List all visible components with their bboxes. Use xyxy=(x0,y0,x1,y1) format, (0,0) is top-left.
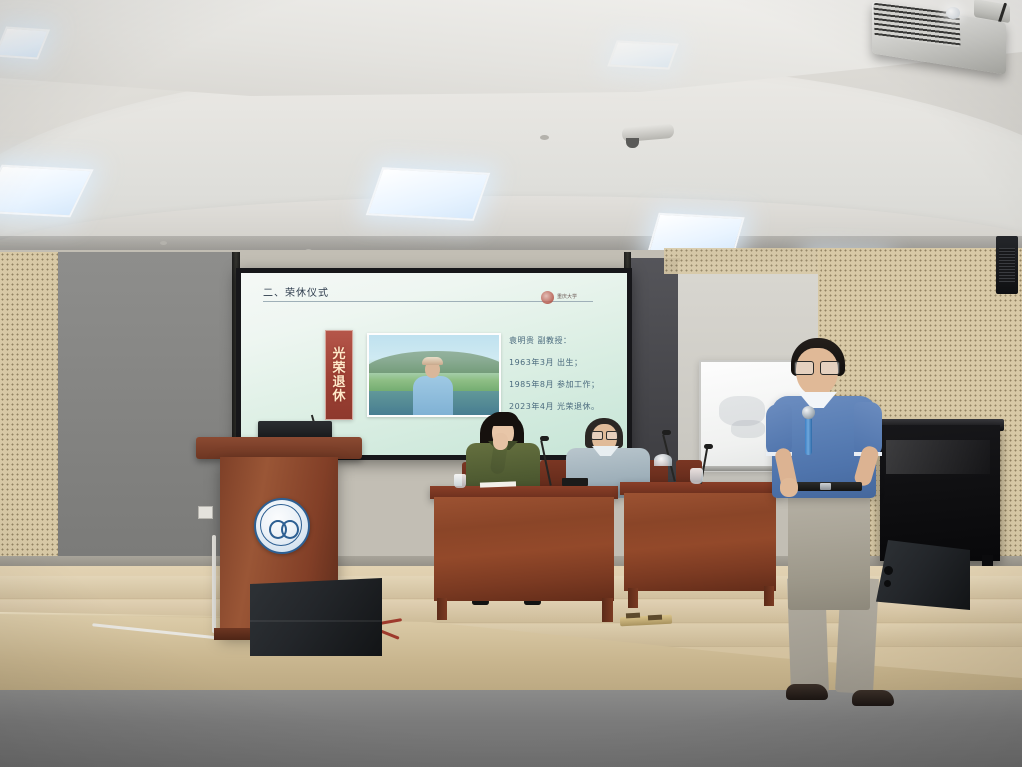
table-leg xyxy=(437,598,447,620)
woman-hand xyxy=(493,433,508,450)
auditorium-scene: 二、荣休仪式 重庆大学 光 荣 退 休 袁明贵 副教授： 1963年3月 出生；… xyxy=(0,0,1022,767)
podium-desktop xyxy=(196,437,362,459)
glasses-lens xyxy=(606,431,618,440)
university-seal-icon xyxy=(541,291,554,304)
table-leg xyxy=(764,586,774,606)
floor-cable-box-slot xyxy=(626,613,640,619)
slide-logo-text: 重庆大学 xyxy=(557,294,577,300)
slide-retirement-banner: 光 荣 退 休 xyxy=(325,330,353,420)
glasses-lens xyxy=(794,361,814,375)
projector-lens-icon xyxy=(946,7,960,19)
crest-loop xyxy=(281,520,299,539)
slide-portrait-photo xyxy=(367,333,501,417)
banner-char: 休 xyxy=(332,390,345,403)
glasses-lens xyxy=(820,361,840,375)
floor-cable-box-slot xyxy=(648,615,662,621)
table-microphone-head xyxy=(540,436,549,441)
whiteboard-marks xyxy=(731,420,765,438)
table-microphone-head xyxy=(704,444,713,449)
glass-lid-icon xyxy=(654,454,672,466)
photo-person-cap xyxy=(422,357,443,365)
banner-char: 退 xyxy=(332,376,345,389)
water-glass xyxy=(454,474,466,488)
stage-monitor-speaker xyxy=(250,578,382,656)
ceiling-light-panel xyxy=(607,40,678,69)
glasses-lens xyxy=(591,431,603,440)
acoustic-grey-panel xyxy=(58,252,234,570)
stage-monitor-edge xyxy=(250,620,382,622)
table-leg xyxy=(602,598,613,622)
water-glass xyxy=(690,468,703,484)
wall-speaker-grille-icon xyxy=(999,248,1015,282)
slide-info-line: 袁明贵 副教授： xyxy=(509,335,572,346)
ceiling-detector-icon xyxy=(160,241,167,245)
slide-info-line: 1963年3月 出生； xyxy=(509,357,583,368)
stage-monitor-speaker xyxy=(876,540,970,610)
head-table-left-front xyxy=(434,497,614,601)
speaker-shoe-left xyxy=(786,684,828,700)
acoustic-wood-panel xyxy=(0,252,58,576)
speaker-shoe-right xyxy=(852,690,894,706)
speaker-trousers xyxy=(788,488,870,610)
slide-info-line: 2023年4月 光荣退休。 xyxy=(509,401,600,412)
table-microphone-head xyxy=(662,430,671,435)
handheld-microphone[interactable] xyxy=(804,406,813,452)
ceiling-detector-icon xyxy=(540,135,549,140)
piano-reflection xyxy=(886,440,990,474)
photo-person-body xyxy=(413,376,453,416)
microphone-head-icon xyxy=(802,406,815,419)
speaker-glasses-icon xyxy=(794,362,840,374)
ceiling-projector xyxy=(858,2,1016,74)
speaker-hand-left xyxy=(780,478,798,497)
university-crest-icon xyxy=(254,498,310,554)
monitor-driver-icon xyxy=(884,580,891,587)
head-table-right-front xyxy=(624,493,776,591)
microphone-body xyxy=(805,419,812,455)
slide-university-logo: 重庆大学 xyxy=(541,289,599,305)
slide-info-line: 1985年8月 参加工作； xyxy=(509,379,600,390)
slide-title: 二、荣休仪式 xyxy=(263,284,329,299)
ceiling-light-panel xyxy=(366,167,491,221)
power-cable xyxy=(212,535,216,633)
monitor-driver-icon xyxy=(884,566,893,575)
speaker-belt-buckle xyxy=(820,483,831,490)
banner-char: 荣 xyxy=(332,362,345,375)
table-leg xyxy=(628,588,638,608)
wall-socket-icon[interactable] xyxy=(198,506,213,519)
woman-fringe xyxy=(488,412,519,426)
man-seated-glasses-icon xyxy=(591,432,618,439)
banner-char: 光 xyxy=(332,348,345,361)
nameplate xyxy=(562,478,588,486)
acoustic-wood-panel xyxy=(664,248,822,274)
